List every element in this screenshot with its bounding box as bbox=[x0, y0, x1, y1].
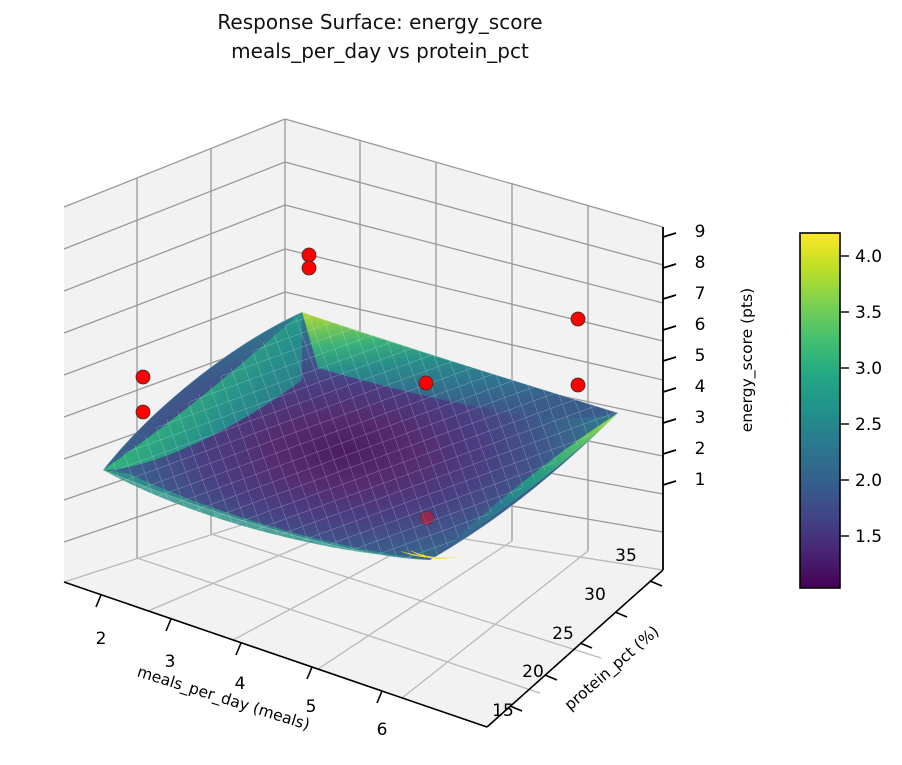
colorbar-label-2: 3.0 bbox=[855, 359, 882, 379]
colorbar-ticks bbox=[840, 256, 849, 536]
scatter-point-0 bbox=[136, 370, 150, 384]
scatter-point-1 bbox=[136, 405, 150, 419]
colorbar-tick-labels: 4.03.53.02.52.01.5 bbox=[855, 247, 882, 547]
z-tick-3: 6 bbox=[695, 315, 706, 335]
x-axis-label: meals_per_day (meals) bbox=[135, 663, 312, 735]
colorbar-label-1: 3.5 bbox=[855, 303, 882, 323]
scatter-point-5 bbox=[420, 511, 434, 525]
x-tick-0: 2 bbox=[96, 629, 107, 649]
axis-spine-z bbox=[663, 227, 676, 570]
y-tick-2: 25 bbox=[552, 624, 574, 644]
z-tick-labels: 987654321 bbox=[695, 222, 706, 490]
colorbar-label-4: 2.0 bbox=[855, 471, 882, 491]
scatter-point-3 bbox=[302, 261, 316, 275]
y-tick-1: 20 bbox=[522, 662, 544, 682]
figure-canvas: Response Surface: energy_score meals_per… bbox=[0, 0, 902, 765]
y-tick-4: 35 bbox=[615, 546, 637, 566]
colorbar-label-5: 1.5 bbox=[855, 527, 882, 547]
y-tick-3: 30 bbox=[584, 585, 606, 605]
z-tick-7: 2 bbox=[695, 439, 706, 459]
scatter-point-7 bbox=[571, 378, 585, 392]
x-tick-4: 6 bbox=[377, 720, 388, 740]
y-tick-0: 15 bbox=[492, 701, 514, 721]
x-tick-3: 5 bbox=[306, 697, 317, 717]
scatter-point-4 bbox=[419, 376, 433, 390]
z-tick-6: 3 bbox=[695, 408, 706, 428]
z-tick-5: 4 bbox=[695, 377, 706, 397]
colorbar-label-3: 2.5 bbox=[855, 415, 882, 435]
z-tick-2: 7 bbox=[695, 284, 706, 304]
colorbar-label-0: 4.0 bbox=[855, 247, 882, 267]
x-tick-1: 3 bbox=[165, 652, 176, 672]
z-axis-label: energy_score (pts) bbox=[738, 288, 757, 432]
x-tick-2: 4 bbox=[235, 674, 246, 694]
response-surface-plot: 23456 1520253035 987654321 meals_per_day… bbox=[0, 0, 902, 765]
z-tick-1: 8 bbox=[695, 253, 706, 273]
scatter-point-2 bbox=[302, 248, 316, 262]
z-tick-8: 1 bbox=[695, 470, 706, 490]
z-tick-0: 9 bbox=[695, 222, 706, 242]
z-tick-4: 5 bbox=[695, 346, 706, 366]
scatter-point-6 bbox=[571, 312, 585, 326]
colorbar[interactable] bbox=[800, 233, 840, 588]
